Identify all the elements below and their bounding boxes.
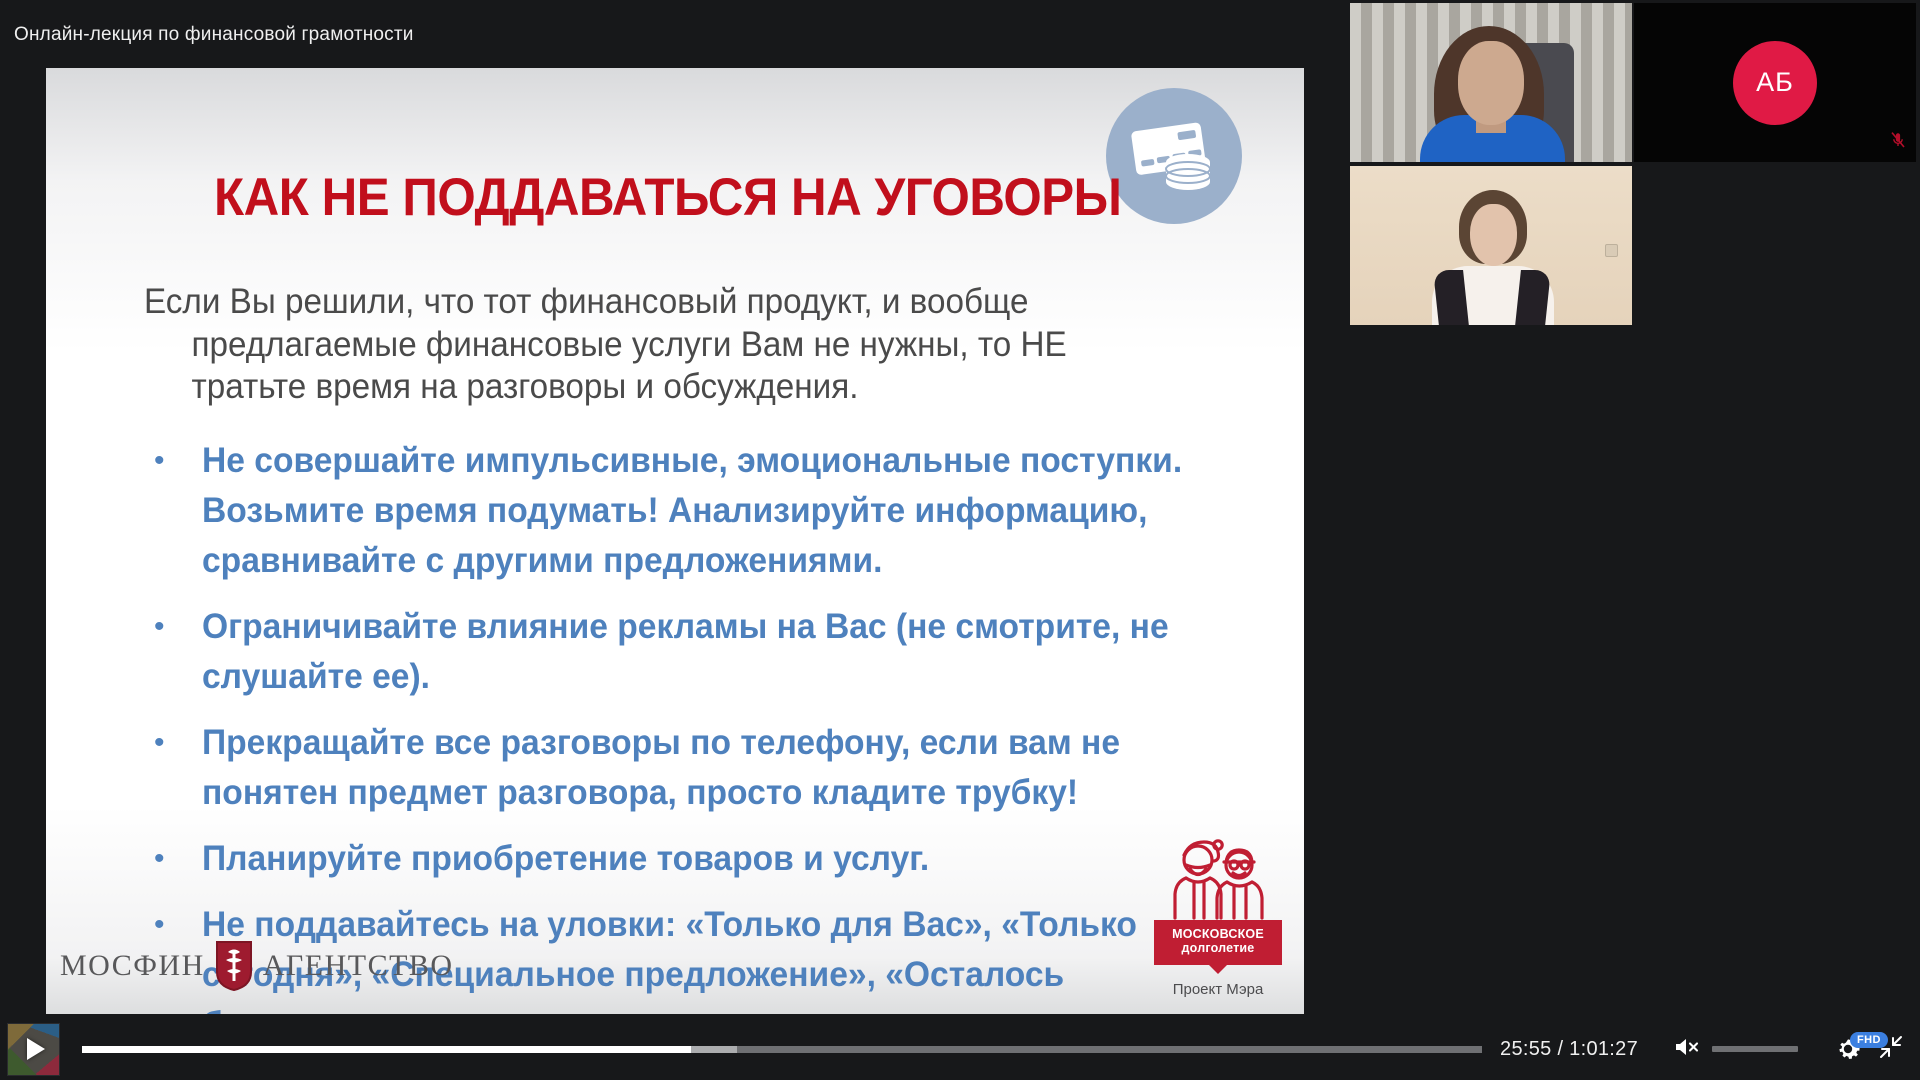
speaker-video-tile-1[interactable] [1350,3,1632,162]
bullet-marker-icon: • [132,834,202,884]
time-display: 25:55 / 1:01:27 [1500,1038,1638,1061]
slide-bullet-list: • Не совершайте импульсивные, эмоциональ… [132,436,1292,1014]
seek-bar[interactable] [82,1043,1482,1055]
bullet-text: Планируйте приобретение товаров и услуг. [202,834,1248,884]
participant-avatar-tile[interactable]: АБ [1634,3,1916,162]
intro-line-1: Если Вы решили, что тот финансовый проду… [144,281,1156,324]
player-settings-group: FHD [1834,1034,1904,1065]
longevity-line-2: долголетие [1158,941,1278,956]
intro-line-3: тратьте время на разговоры и обсуждения. [144,366,1156,409]
list-item: • Не совершайте импульсивные, эмоциональ… [132,436,1292,586]
avatar: АБ [1733,41,1817,125]
quality-badge[interactable]: FHD [1850,1032,1888,1048]
bullet-marker-icon: • [132,718,202,768]
seek-progress [82,1046,691,1053]
list-item: • Планируйте приобретение товаров и услу… [132,834,1292,884]
mosfin-shield-icon [215,940,253,992]
video-player-page: Онлайн-лекция по финансовой грамотности [0,0,1920,1080]
mosfin-word-left: МОСФИН [60,949,205,983]
tile-1-face [1458,41,1524,125]
presentation-slide[interactable]: КАК НЕ ПОДДАВАТЬСЯ НА УГОВОРЫ Если Вы ре… [46,68,1304,1014]
bullet-marker-icon: • [132,602,202,652]
play-button[interactable] [7,1023,60,1076]
bullet-marker-icon: • [132,436,202,486]
tile-2-vest-left [1433,270,1469,325]
mosfin-agency-logo: МОСФИН АГЕНТСТВО [60,940,454,992]
player-control-bar: 25:55 / 1:01:27 FHD [0,1018,1920,1080]
bullet-text: Прекращайте все разговоры по телефону, е… [202,718,1248,818]
credit-card-icon [1106,88,1242,224]
longevity-line-1: МОСКОВСКОЕ [1158,927,1278,942]
settings-gear-button[interactable]: FHD [1834,1035,1862,1063]
volume-control[interactable] [1672,1035,1798,1064]
microphone-muted-icon [1890,131,1906,154]
list-item: • Ограничивайте влияние рекламы на Вас (… [132,602,1292,702]
tile-2-vest-right [1515,270,1551,325]
tile-2-face [1470,204,1517,266]
speaker-video-tile-2[interactable] [1350,166,1632,325]
volume-muted-icon[interactable] [1672,1035,1702,1064]
mosfin-word-right: АГЕНТСТВО [263,949,454,983]
seek-track[interactable] [82,1046,1482,1053]
play-icon [27,1038,45,1060]
intro-line-2: предлагаемые финансовые услуги Вам не ну… [144,324,1156,367]
list-item: • Прекращайте все разговоры по телефону,… [132,718,1292,818]
volume-slider[interactable] [1712,1046,1798,1052]
longevity-subtitle: Проект Мэра [1154,981,1282,998]
bullet-text: Не совершайте импульсивные, эмоциональны… [202,436,1248,586]
bullet-text: Ограничивайте влияние рекламы на Вас (не… [202,602,1248,702]
slide-intro-paragraph: Если Вы решили, что тот финансовый проду… [144,281,1156,409]
longevity-plate: МОСКОВСКОЕ долголетие [1154,920,1282,966]
tile-2-wall-socket [1605,244,1618,257]
moscow-longevity-logo: МОСКОВСКОЕ долголетие Проект Мэра [1154,838,1282,999]
page-title: Онлайн-лекция по финансовой грамотности [14,24,414,46]
elderly-couple-icon [1154,838,1282,920]
slide-heading: КАК НЕ ПОДДАВАТЬСЯ НА УГОВОРЫ [214,171,1121,224]
